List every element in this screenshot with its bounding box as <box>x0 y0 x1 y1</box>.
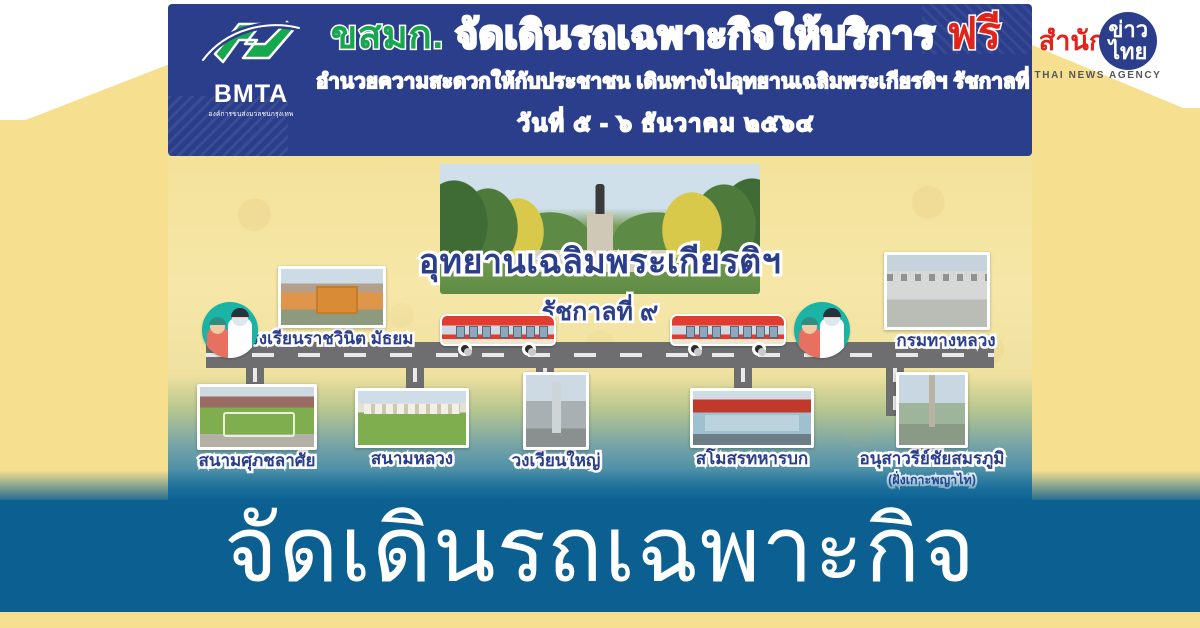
bus-window <box>469 326 478 338</box>
poster-canvas: BMTA องค์การขนส่งมวลชนกรุงเทพ ขสมก. จัดเ… <box>0 0 1200 628</box>
victory-monument-icon <box>896 372 968 448</box>
station-wongwianyai[interactable]: วงเวียนใหญ่ <box>486 372 626 471</box>
title-segment-free: ฟรี <box>947 10 1002 58</box>
tna-circle-badge: ข่าวไทย <box>1099 12 1157 70</box>
station-label: วงเวียนใหญ่ <box>486 452 626 471</box>
station-ratchawinit[interactable]: โรงเรียนราชวินิต มัธยม <box>192 266 432 349</box>
doctor-hair-icon <box>231 308 249 317</box>
bus-window <box>686 326 695 338</box>
army-club-icon <box>690 388 814 448</box>
bus-wheel <box>522 342 536 356</box>
station-army-club[interactable]: สโมสรทหารบก <box>676 388 828 469</box>
bus-body <box>670 314 786 346</box>
station-label: สโมสรทหารบก <box>676 450 828 469</box>
bus-window <box>500 326 509 338</box>
station-label: อนุสาวรีย์ชัยสมรภูมิ <box>834 450 1030 469</box>
title-segment-agency: ขสมก. <box>331 14 444 57</box>
header-text-block: ขสมก. จัดเดินรถเฉพาะกิจให้บริการ ฟรี อำน… <box>316 10 1016 142</box>
bus-window <box>712 326 721 338</box>
bus-window <box>699 326 708 338</box>
bmta-logo: BMTA องค์การขนส่งมวลชนกรุงเทพ <box>192 14 310 126</box>
bus-body <box>440 314 556 346</box>
station-sanamluang[interactable]: สนามหลวง <box>344 388 480 469</box>
tna-english-name: THAI NEWS AGENCY <box>1012 70 1184 81</box>
overlay-headline: จัดเดินรถเฉพาะกิจ <box>0 504 1200 596</box>
poster-date: วันที่ ๕ - ๖ ธันวาคม ๒๕๖๔ <box>316 106 1016 142</box>
bus-window <box>526 326 535 338</box>
tna-logo-row: สำนัก ข่าวไทย <box>1012 14 1184 68</box>
bus-window <box>539 326 548 338</box>
bottom-yellow-strip <box>0 612 1200 628</box>
bus-window <box>456 326 465 338</box>
patient-hair-icon <box>209 317 226 325</box>
king-statue-icon <box>596 184 605 214</box>
station-label: สนามศุภชลาศัย <box>182 452 332 471</box>
poster-title: ขสมก. จัดเดินรถเฉพาะกิจให้บริการ ฟรี <box>316 10 1016 59</box>
bus-right <box>670 314 786 356</box>
tna-circle-text: ข่าวไทย <box>1099 19 1157 63</box>
monument-icon <box>523 372 589 450</box>
bus-window <box>513 326 522 338</box>
vaccination-icon <box>202 302 258 358</box>
bus-window <box>482 326 491 338</box>
bus-left <box>440 314 556 356</box>
thai-news-agency-logo: สำนัก ข่าวไทย THAI NEWS AGENCY <box>1012 14 1184 96</box>
poster-subtitle: อำนวยความสะดวกให้กับประชาชน เดินทางไปอุท… <box>316 65 1016 98</box>
bus-wheel <box>688 342 702 356</box>
bus-window <box>756 326 765 338</box>
vaccination-icon <box>794 302 850 358</box>
station-highways[interactable]: กรมทางหลวง <box>780 252 1030 351</box>
station-label: สนามหลวง <box>344 450 480 469</box>
bus-wheel <box>752 342 766 356</box>
station-label: กรมทางหลวง <box>862 332 1030 351</box>
bmta-acronym: BMTA <box>192 82 310 107</box>
bus-window <box>769 326 778 338</box>
bus-window <box>730 326 739 338</box>
government-building-icon <box>884 252 990 330</box>
patient-hair-icon <box>801 317 818 325</box>
stadium-icon <box>197 384 317 450</box>
bmta-emblem-icon <box>199 14 303 80</box>
tna-prefix: สำนัก <box>1039 28 1105 55</box>
bus-window <box>743 326 752 338</box>
bus-wheel <box>458 342 472 356</box>
station-supachalasai[interactable]: สนามศุภชลาศัย <box>182 384 332 471</box>
school-building-icon <box>278 266 386 328</box>
doctor-hair-icon <box>823 308 841 317</box>
royal-ground-icon <box>355 388 469 448</box>
bmta-thai-subtitle: องค์การขนส่งมวลชนกรุงเทพ <box>192 109 310 119</box>
title-segment-main: จัดเดินรถเฉพาะกิจให้บริการ <box>455 14 935 57</box>
